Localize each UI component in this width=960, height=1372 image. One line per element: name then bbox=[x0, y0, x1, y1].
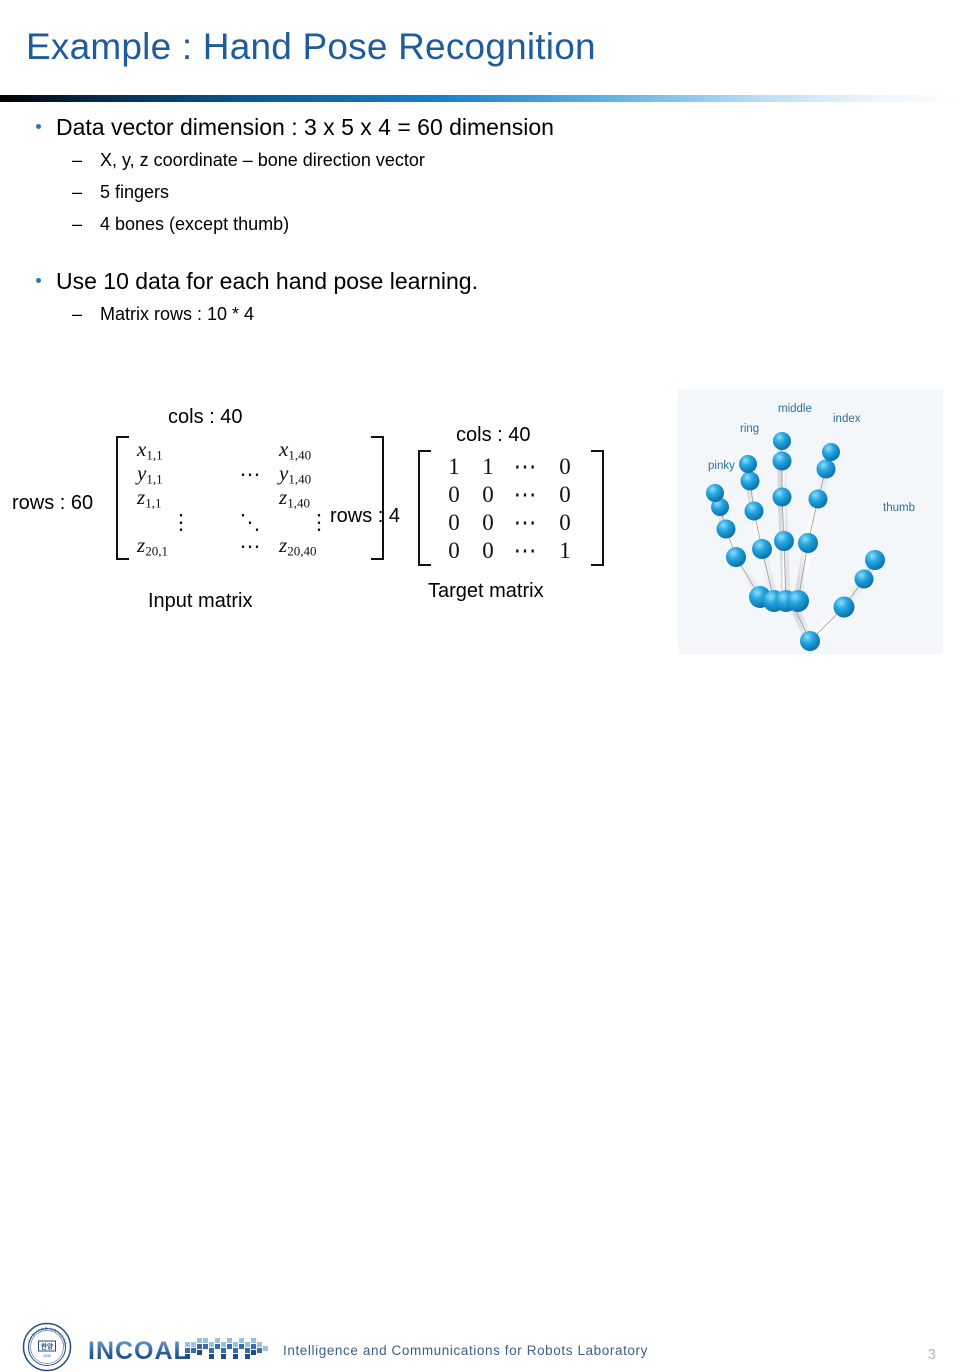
seal-year-text: 1939 bbox=[43, 1354, 51, 1358]
hand-label-thumb: thumb bbox=[883, 502, 915, 514]
matrix-cell: ⋯ bbox=[505, 455, 545, 478]
lab-tagline: Intelligence and Communications for Robo… bbox=[283, 1343, 648, 1358]
hand-label-pinky: pinky bbox=[708, 460, 735, 472]
matrix-cell: ⋱ bbox=[227, 512, 273, 533]
matrix-cell: ⋯ bbox=[227, 536, 273, 557]
matrix-cell: 0 bbox=[471, 483, 505, 506]
bullet-level2: – 4 bones (except thumb) bbox=[0, 208, 720, 240]
matrix-cell: 0 bbox=[545, 511, 585, 534]
slide-footer: 한양 1939 HANYANG UNIVERSITY INCOAL bbox=[0, 658, 960, 720]
bullet-text: 4 bones (except thumb) bbox=[100, 214, 289, 234]
page-number: 3 bbox=[928, 1346, 936, 1363]
title-divider bbox=[0, 95, 960, 102]
bracket-left-icon bbox=[116, 436, 129, 560]
target-matrix-cols-label: cols : 40 bbox=[456, 424, 530, 447]
matrix-cell: ⋯ bbox=[227, 464, 273, 485]
hand-label-index: index bbox=[833, 413, 861, 425]
target-matrix-rows-label: rows : 4 bbox=[330, 505, 400, 528]
incoal-wordmark: INCOAL bbox=[88, 1337, 190, 1366]
dash-marker-icon: – bbox=[72, 176, 82, 208]
input-matrix-caption: Input matrix bbox=[148, 590, 252, 613]
matrix-cell: y1,40 bbox=[273, 463, 365, 486]
bullet-text: Matrix rows : 10 * 4 bbox=[100, 304, 254, 324]
matrix-cell: ⋯ bbox=[505, 483, 545, 506]
input-matrix-body: x1,1x1,40y1,1⋯y1,40z1,1z1,40⋮⋱⋮z20,1⋯z20… bbox=[116, 436, 384, 560]
hand-skeleton-figure: pinky ring middle index thumb bbox=[678, 389, 943, 654]
seal-korean-text: 한양 bbox=[41, 1342, 53, 1351]
page-title: Example : Hand Pose Recognition bbox=[26, 26, 596, 68]
matrix-cell: 0 bbox=[471, 539, 505, 562]
bullet-level1: Use 10 data for each hand pose learning. bbox=[0, 266, 720, 296]
hand-label-ring: ring bbox=[740, 423, 759, 435]
bullet-list: Data vector dimension : 3 x 5 x 4 = 60 d… bbox=[0, 112, 720, 330]
hand-skeleton-svg: pinky ring middle index thumb bbox=[678, 389, 943, 654]
bullet-spacer bbox=[0, 240, 720, 266]
incoal-pixel-grid-icon bbox=[185, 1338, 277, 1360]
input-matrix-rows-label: rows : 60 bbox=[12, 492, 93, 515]
bullet-level2: – Matrix rows : 10 * 4 bbox=[0, 298, 720, 330]
matrix-cell: z20,40 bbox=[273, 535, 365, 558]
dash-marker-icon: – bbox=[72, 144, 82, 176]
bullet-level2: – 5 fingers bbox=[0, 176, 720, 208]
matrix-cell: x1,40 bbox=[273, 439, 365, 462]
hand-label-middle: middle bbox=[778, 403, 812, 415]
matrix-cell: z1,1 bbox=[135, 487, 227, 510]
bullet-text: X, y, z coordinate – bone direction vect… bbox=[100, 150, 425, 170]
bullet-text: 5 fingers bbox=[100, 182, 169, 202]
bullet-level2: – X, y, z coordinate – bone direction ve… bbox=[0, 144, 720, 176]
matrix-cell: 1 bbox=[545, 539, 585, 562]
matrix-cell: 0 bbox=[471, 511, 505, 534]
target-matrix-caption: Target matrix bbox=[428, 580, 544, 603]
matrix-cell: 0 bbox=[437, 483, 471, 506]
dash-marker-icon: – bbox=[72, 208, 82, 240]
matrix-cell: 0 bbox=[437, 511, 471, 534]
input-matrix-grid: x1,1x1,40y1,1⋯y1,40z1,1z1,40⋮⋱⋮z20,1⋯z20… bbox=[129, 436, 371, 560]
bullet-text: Data vector dimension : 3 x 5 x 4 = 60 d… bbox=[56, 114, 554, 140]
matrix-cell: ⋯ bbox=[505, 511, 545, 534]
matrix-cell: 1 bbox=[471, 455, 505, 478]
bracket-left-icon bbox=[418, 450, 431, 566]
bracket-right-icon bbox=[371, 436, 384, 560]
matrix-cell: 0 bbox=[545, 455, 585, 478]
hanyang-university-seal-icon: 한양 1939 HANYANG UNIVERSITY bbox=[22, 1322, 72, 1372]
dash-marker-icon: – bbox=[72, 298, 82, 330]
matrix-cell: y1,1 bbox=[135, 463, 227, 486]
matrix-cell: x1,1 bbox=[135, 439, 227, 462]
matrix-cell: 0 bbox=[437, 539, 471, 562]
bullet-dot-icon bbox=[36, 124, 41, 129]
target-matrix-body: 11⋯000⋯000⋯000⋯1 bbox=[418, 450, 604, 566]
matrix-cell: 0 bbox=[545, 483, 585, 506]
matrix-cell: 1 bbox=[437, 455, 471, 478]
matrix-cell: z20,1 bbox=[135, 535, 227, 558]
bullet-text: Use 10 data for each hand pose learning. bbox=[56, 268, 478, 294]
target-matrix-grid: 11⋯000⋯000⋯000⋯1 bbox=[431, 450, 591, 566]
bracket-right-icon bbox=[591, 450, 604, 566]
bullet-dot-icon bbox=[36, 278, 41, 283]
matrix-cell: ⋮ bbox=[135, 512, 227, 533]
input-matrix-cols-label: cols : 40 bbox=[168, 406, 242, 429]
matrix-cell: ⋯ bbox=[505, 539, 545, 562]
bullet-level1: Data vector dimension : 3 x 5 x 4 = 60 d… bbox=[0, 112, 720, 142]
